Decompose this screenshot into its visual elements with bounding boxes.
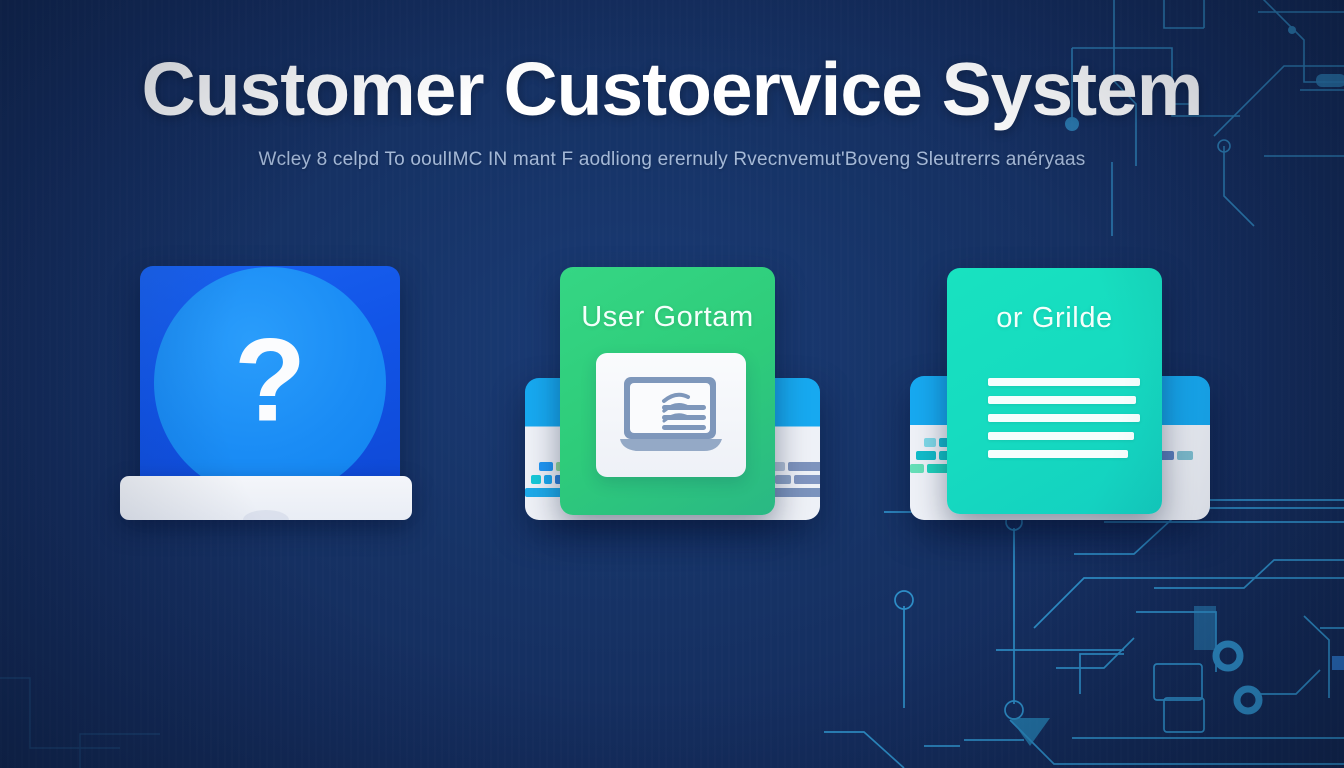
poster-canvas: Customer Custoervice System Wcley 8 celp… <box>0 0 1344 768</box>
bar-segment <box>775 475 791 484</box>
bar-segment <box>539 462 553 471</box>
laptop-document-icon <box>596 353 746 477</box>
help-card-panel: ? <box>140 266 400 491</box>
guide-title: or Grilde <box>947 302 1162 335</box>
document-line <box>988 432 1134 440</box>
document-lines-icon <box>988 378 1140 468</box>
document-line <box>988 450 1128 458</box>
guide-panel: or Grilde <box>947 268 1162 514</box>
bar-segment <box>531 475 541 484</box>
document-line <box>988 396 1136 404</box>
bar-segment <box>794 475 820 484</box>
page-title: Customer Custoervice System <box>0 52 1344 127</box>
card-row: ? User Gortam <box>0 258 1344 548</box>
guide-card[interactable]: or Grilde <box>890 258 1230 548</box>
laptop-notch-icon <box>243 510 289 520</box>
user-portal-panel: User Gortam <box>560 267 775 515</box>
bar-segment <box>916 451 936 460</box>
question-mark-icon: ? <box>234 322 306 440</box>
document-line <box>988 378 1140 386</box>
help-card[interactable]: ? <box>120 258 460 548</box>
user-portal-title: User Gortam <box>560 301 775 334</box>
help-circle-icon: ? <box>154 267 386 491</box>
circuit-pattern-bottom-left-icon <box>0 638 190 768</box>
bar-segment <box>788 462 820 471</box>
bar-segment <box>910 464 924 473</box>
page-subtitle: Wcley 8 celpd To ooulIMC IN mant F aodli… <box>0 149 1344 171</box>
user-portal-card[interactable]: User Gortam <box>505 258 845 548</box>
bar-segment <box>1177 451 1193 460</box>
header: Customer Custoervice System Wcley 8 celp… <box>0 52 1344 171</box>
bar-segment <box>544 475 552 484</box>
document-line <box>988 414 1140 422</box>
bar-segment <box>924 438 936 447</box>
laptop-icon-tile <box>596 353 746 477</box>
help-card-base <box>120 476 412 520</box>
